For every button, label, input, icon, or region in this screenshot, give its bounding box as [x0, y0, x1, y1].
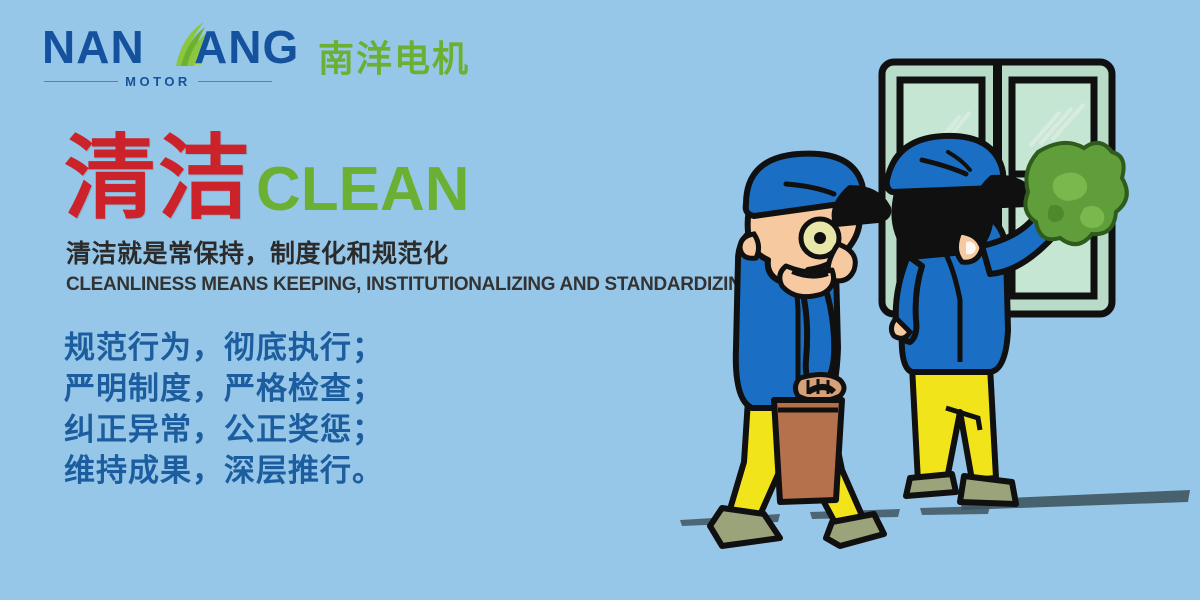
slogan-list: 规范行为，彻底执行； 严明制度，严格检查； 纠正异常，公正奖惩； 维持成果，深层… [64, 328, 384, 492]
headline-chinese: 清洁 [64, 133, 252, 225]
logo-wordmark-part-a: NAN [42, 24, 145, 70]
slogan-line: 规范行为，彻底执行； [64, 328, 384, 369]
two-workers-cleaning-window-illustration [660, 0, 1200, 600]
subtitle-english: CLEANLINESS MEANS KEEPING, INSTITUTIONAL… [66, 271, 756, 297]
logo-rule-right [198, 81, 272, 82]
cleaning-cloth [1025, 143, 1126, 244]
headline-english: CLEAN [256, 159, 470, 221]
logo-subtext: MOTOR [125, 74, 191, 89]
poster-canvas: NAN ANG MOTOR 南洋电机 清洁 CLEAN 清洁就是常保持，制度化和… [0, 0, 1200, 600]
worker-walking-with-briefcase [710, 154, 888, 546]
logo-motor-line: MOTOR [44, 74, 272, 88]
slogan-line: 维持成果，深层推行。 [64, 451, 384, 492]
logo-rule-left [44, 81, 118, 82]
logo-wordmark-part-b: ANG [194, 24, 299, 70]
headline: 清洁 CLEAN [64, 125, 470, 225]
company-logo: NAN ANG MOTOR 南洋电机 [42, 20, 472, 82]
slogan-line: 严明制度，严格检查； [64, 369, 384, 410]
logo-chinese-name: 南洋电机 [318, 42, 470, 78]
slogan-line: 纠正异常，公正奖惩； [64, 410, 384, 451]
